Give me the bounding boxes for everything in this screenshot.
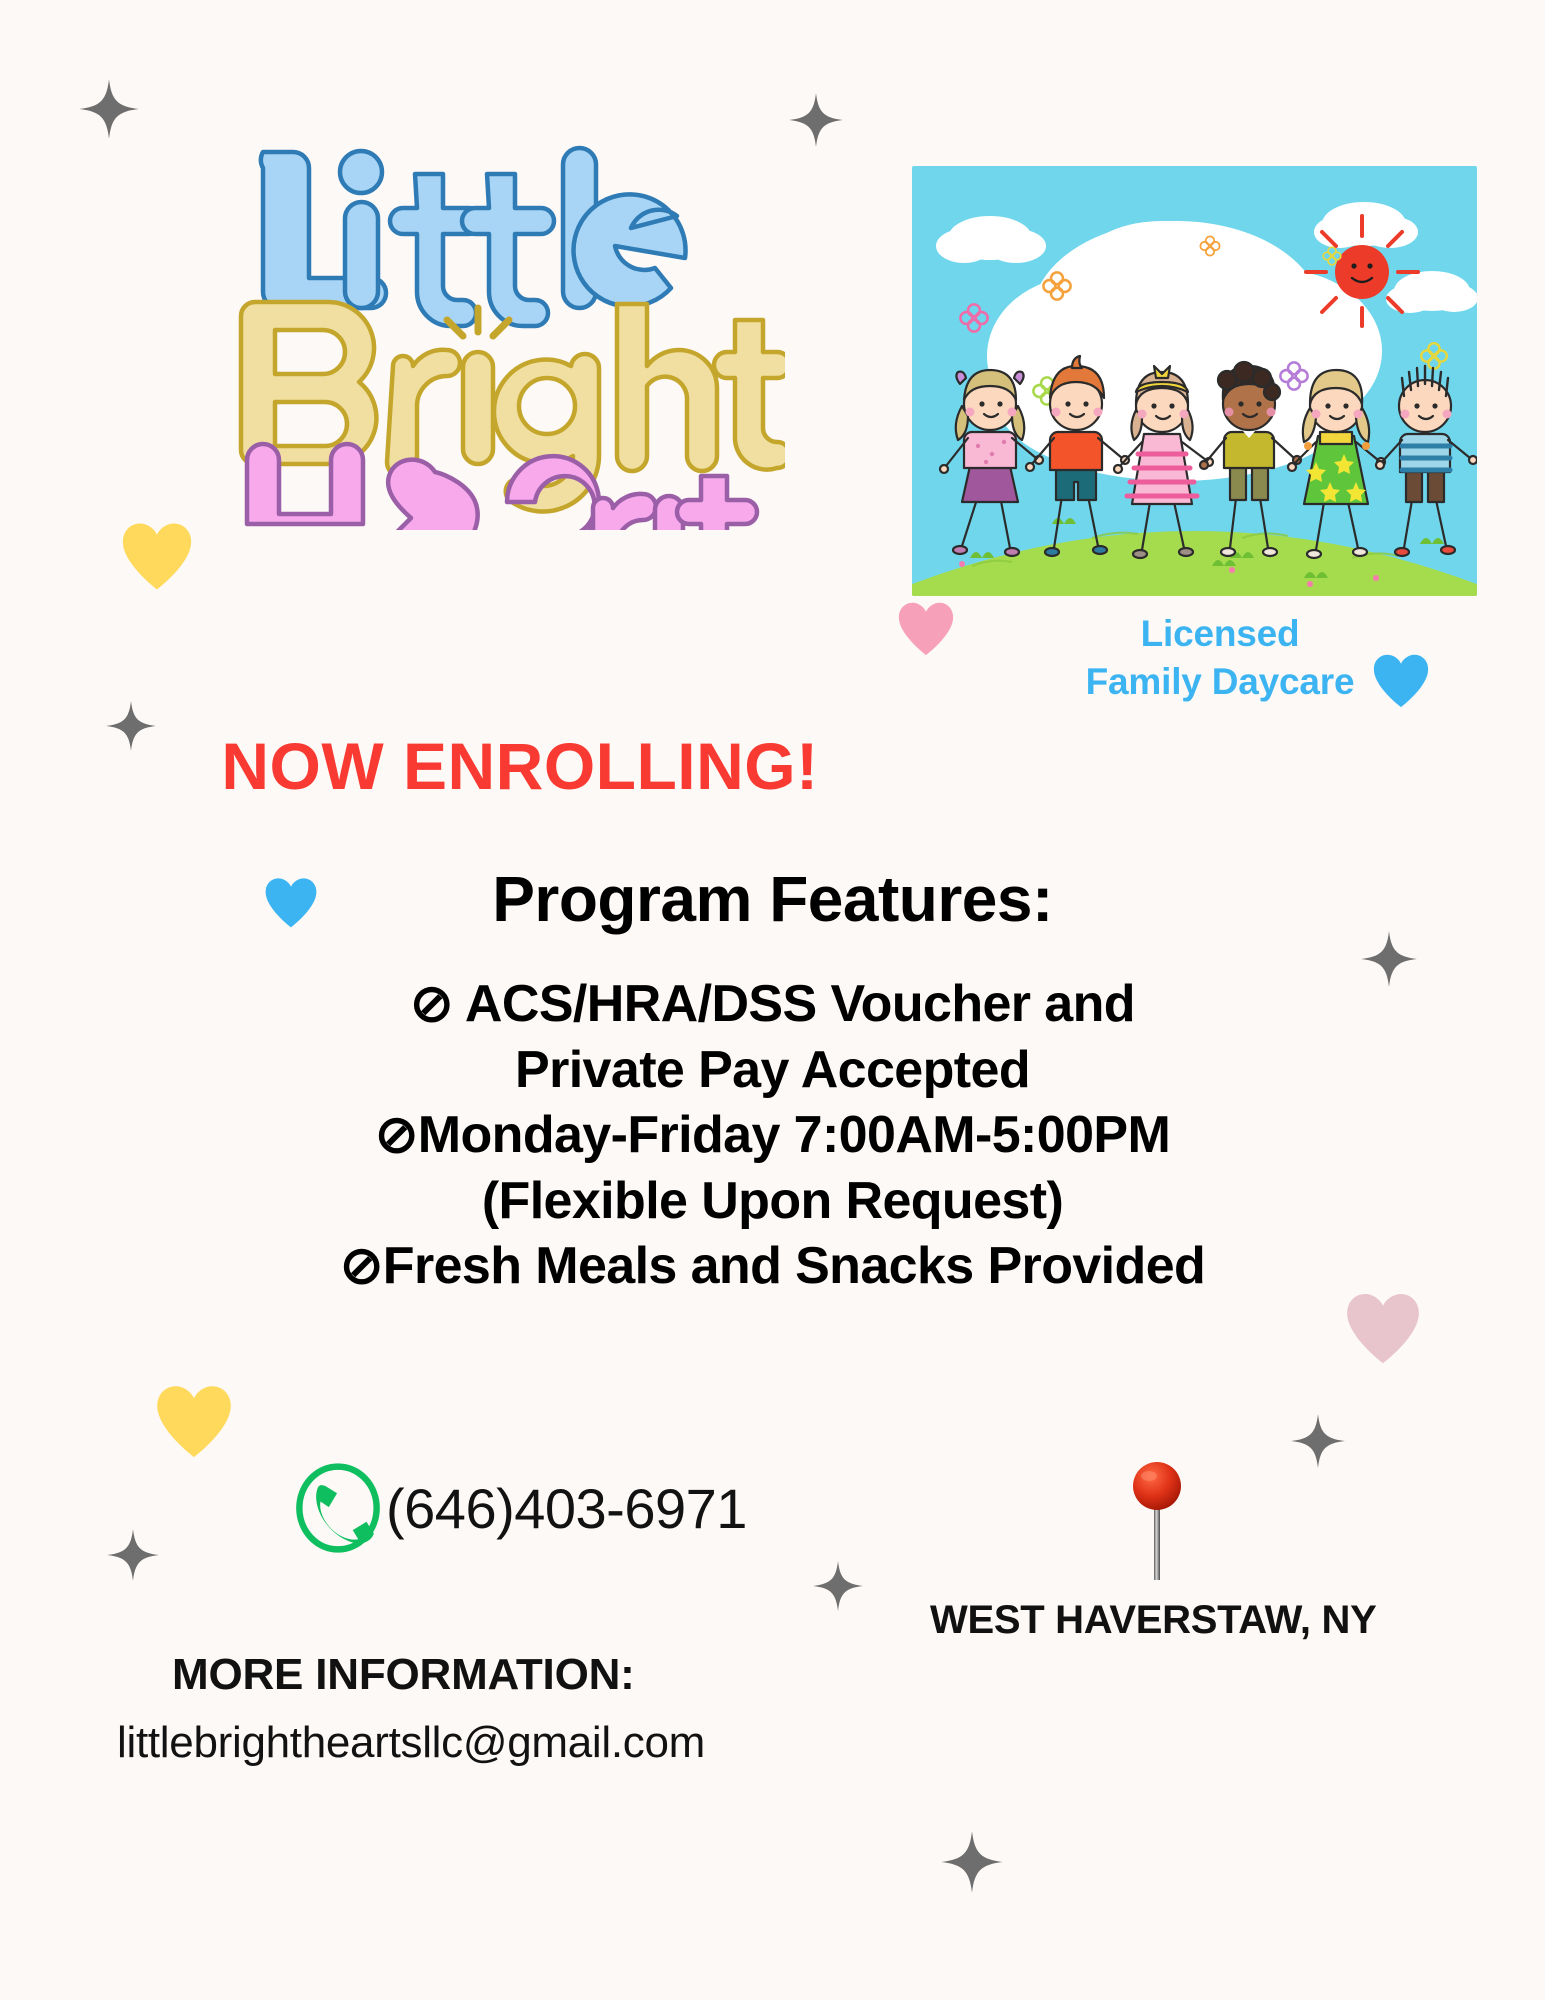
- phone-contact[interactable]: (646)403-6971: [292, 1462, 747, 1554]
- sparkle-icon: [1290, 1413, 1346, 1474]
- more-information-label: MORE INFORMATION:: [172, 1650, 635, 1700]
- children-holding-hands-illustration: [912, 166, 1477, 596]
- licensed-line-2: Family Daycare: [1010, 658, 1430, 706]
- map-pin-icon: [1122, 1452, 1194, 1584]
- heart-letter: [383, 460, 478, 530]
- licensed-line-1: Licensed: [1010, 610, 1430, 658]
- yellow-heart-icon: [152, 1380, 236, 1463]
- feature-item: Private Pay Accepted: [0, 1038, 1545, 1104]
- location-label: WEST HAVERSTAW, NY: [930, 1598, 1376, 1643]
- sparkle-icon: [812, 1560, 864, 1617]
- logo-word-little: [261, 148, 686, 326]
- feature-item: ⊘Fresh Meals and Snacks Provided: [0, 1234, 1545, 1300]
- brand-logo: [225, 130, 785, 530]
- feature-item: ⊘ ACS/HRA/DSS Voucher and: [0, 972, 1545, 1038]
- sparkle-icon: [940, 1830, 1004, 1899]
- program-features-title: Program Features:: [0, 862, 1545, 936]
- feature-item: ⊘Monday-Friday 7:00AM-5:00PM: [0, 1103, 1545, 1169]
- pink-heart-icon: [1342, 1288, 1424, 1369]
- feature-item: (Flexible Upon Request): [0, 1169, 1545, 1235]
- yellow-heart-icon: [118, 518, 196, 595]
- now-enrolling-headline: NOW ENROLLING!: [0, 728, 1040, 804]
- pink-heart-icon: [895, 598, 957, 661]
- phone-number: (646)403-6971: [386, 1476, 747, 1541]
- program-features-list: ⊘ ACS/HRA/DSS Voucher and Private Pay Ac…: [0, 972, 1545, 1300]
- sun-icon: [1306, 216, 1418, 326]
- blue-heart-icon: [1370, 650, 1432, 713]
- sparkle-icon: [78, 78, 140, 145]
- phone-icon: [292, 1462, 384, 1554]
- sparkle-icon: [788, 92, 844, 153]
- licensed-family-daycare-label: Licensed Family Daycare: [1010, 610, 1430, 706]
- daycare-flyer: Licensed Family Daycare NOW ENROLLING! P…: [0, 0, 1545, 2000]
- sparkle-icon: [106, 1528, 160, 1587]
- email-address[interactable]: littlebrightheartsllc@gmail.com: [117, 1718, 705, 1768]
